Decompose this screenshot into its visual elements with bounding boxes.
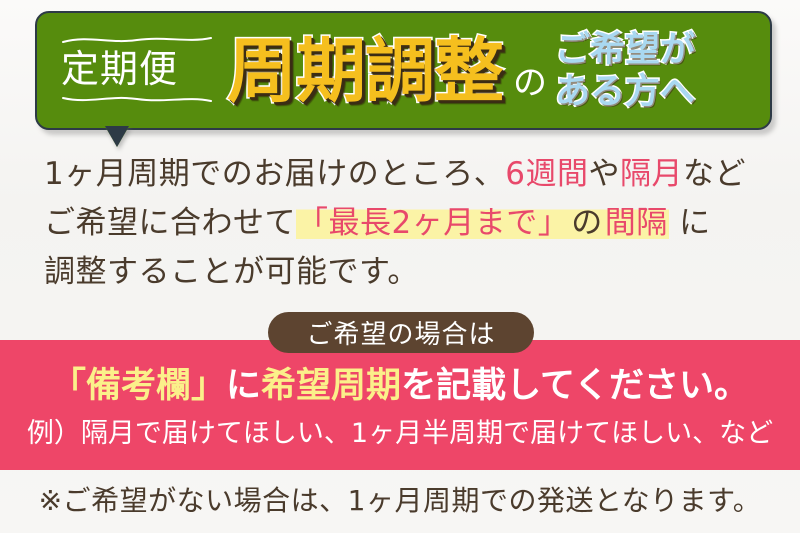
speech-bubble-tail-icon bbox=[106, 128, 128, 147]
text-run-2: や bbox=[588, 156, 620, 192]
text-run-3: 間隔 bbox=[604, 205, 669, 241]
header-wish-line-1: ご希望が bbox=[555, 30, 695, 71]
pink-main-message: 「備考欄」に希望周期を記載してください。 bbox=[0, 366, 800, 406]
text-run-4: に bbox=[669, 205, 711, 241]
text-run-1: に bbox=[226, 366, 261, 406]
text-run-2: 希望周期 bbox=[261, 366, 401, 406]
wave-line-top-icon bbox=[61, 35, 213, 45]
text-run-2: の bbox=[570, 205, 604, 241]
header-bubble: 定期便 周期調整 の ご希望が ある方へ bbox=[35, 11, 772, 130]
body-copy-line-2: ご希望に合わせて「最長2ヶ月まで」の間隔 に bbox=[44, 199, 774, 248]
text-run-0: 調整することが可能です。 bbox=[44, 254, 419, 290]
text-run-3: を記載してください。 bbox=[401, 366, 749, 406]
body-copy: 1ヶ月周期でのお届けのところ、6週間や隔月など ご希望に合わせて「最長2ヶ月まで… bbox=[44, 150, 774, 297]
request-case-badge-label: ご希望の場合は bbox=[306, 314, 495, 351]
subscription-label-block: 定期便 bbox=[59, 29, 215, 112]
text-run-3: 隔月 bbox=[620, 156, 683, 192]
text-run-4: など bbox=[683, 156, 746, 192]
text-run-0: 1ヶ月周期でのお届けのところ、 bbox=[44, 156, 505, 192]
footer-note: ※ご希望がない場合は、1ヶ月周期での発送となります。 bbox=[0, 479, 800, 519]
header-wish-block: ご希望が ある方へ bbox=[555, 30, 695, 113]
header-title: 周期調整 bbox=[227, 36, 503, 106]
body-copy-line-1: 1ヶ月周期でのお届けのところ、6週間や隔月など bbox=[44, 150, 774, 199]
wave-line-bottom-icon bbox=[61, 94, 213, 104]
body-copy-line-3: 調整することが可能です。 bbox=[44, 248, 774, 297]
text-run-0: ご希望に合わせて bbox=[44, 205, 296, 241]
text-run-0: 「備考欄」 bbox=[51, 366, 226, 406]
promo-banner: 定期便 周期調整 の ご希望が ある方へ 1ヶ月周期でのお届けのところ、6週間や… bbox=[0, 0, 800, 533]
text-run-1: 6週間 bbox=[505, 156, 588, 192]
text-run-1: 「最長2ヶ月まで」 bbox=[296, 205, 570, 241]
request-case-badge: ご希望の場合は bbox=[268, 312, 534, 353]
pink-example-text: 例）隔月で届けてほしい、1ヶ月半周期で届けてほしい、など bbox=[0, 418, 800, 449]
subscription-label: 定期便 bbox=[61, 47, 213, 92]
header-particle: の bbox=[513, 55, 547, 104]
header-wish-line-2: ある方へ bbox=[555, 72, 695, 113]
